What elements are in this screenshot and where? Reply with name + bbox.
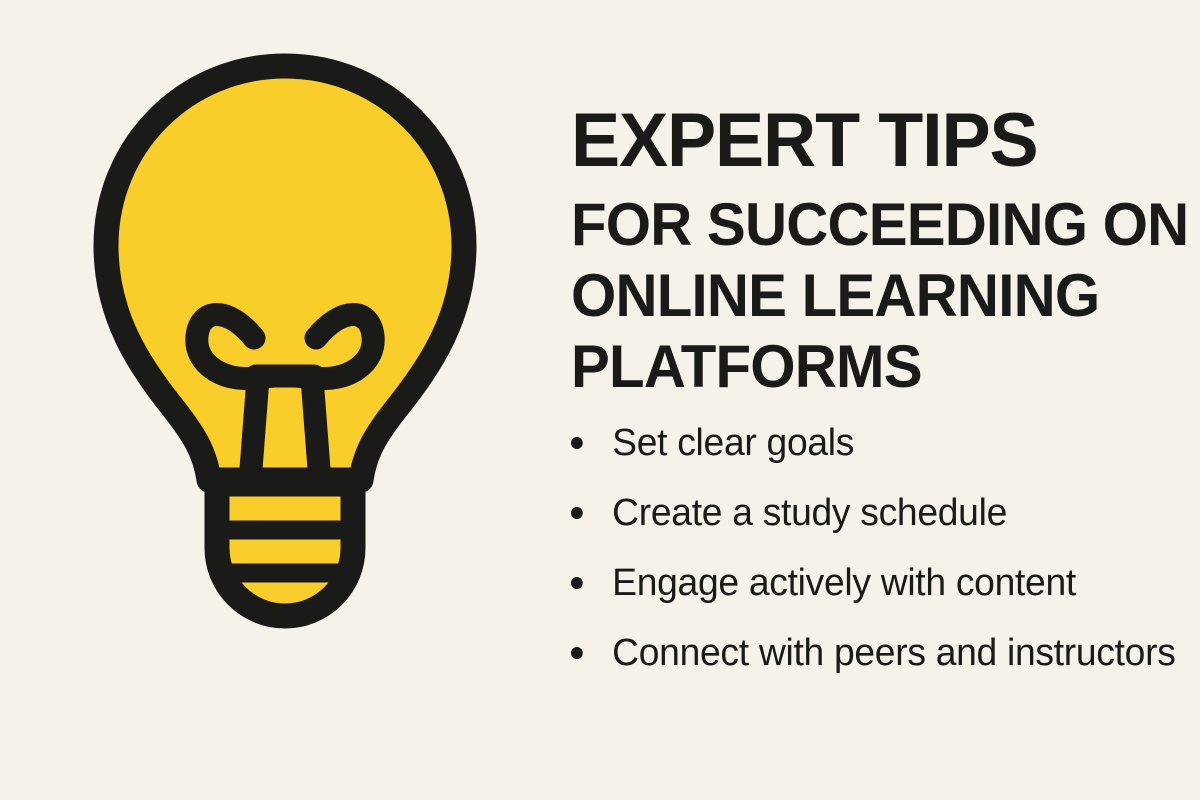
list-item: Connect with peers and instructors bbox=[571, 630, 1179, 676]
filament-stem-left bbox=[250, 378, 258, 482]
list-item: Create a study schedule bbox=[571, 490, 1179, 536]
list-item-label: Set clear goals bbox=[612, 420, 1178, 466]
list-item-label: Connect with peers and instructors bbox=[612, 630, 1178, 676]
page-title: EXPERT TIPS FOR SUCCEEDING ON ONLINE LEA… bbox=[571, 103, 1171, 402]
tips-list: Set clear goals Create a study schedule … bbox=[571, 420, 1191, 676]
lightbulb-icon bbox=[78, 48, 498, 648]
list-item-label: Engage actively with content bbox=[612, 560, 1178, 606]
illustration-panel bbox=[0, 0, 540, 800]
headline-line-3: ONLINE LEARNING bbox=[571, 260, 1153, 331]
bulb-glass-shape bbox=[106, 66, 464, 480]
infographic-poster: EXPERT TIPS FOR SUCCEEDING ON ONLINE LEA… bbox=[0, 0, 1200, 800]
headline-line-4: PLATFORMS bbox=[571, 331, 1153, 402]
bulb-base-shape bbox=[217, 484, 353, 616]
list-item: Set clear goals bbox=[571, 420, 1179, 466]
bullet-point-icon bbox=[571, 437, 583, 449]
bullet-point-icon bbox=[571, 507, 583, 519]
list-item: Engage actively with content bbox=[571, 560, 1179, 606]
filament-stem-right bbox=[312, 378, 320, 482]
text-panel: EXPERT TIPS FOR SUCCEEDING ON ONLINE LEA… bbox=[571, 0, 1171, 800]
bullet-point-icon bbox=[571, 577, 583, 589]
bullet-point-icon bbox=[571, 647, 583, 659]
headline-line-2: FOR SUCCEEDING ON bbox=[571, 189, 1153, 260]
list-item-label: Create a study schedule bbox=[612, 490, 1178, 536]
headline-line-1: EXPERT TIPS bbox=[571, 103, 1153, 179]
